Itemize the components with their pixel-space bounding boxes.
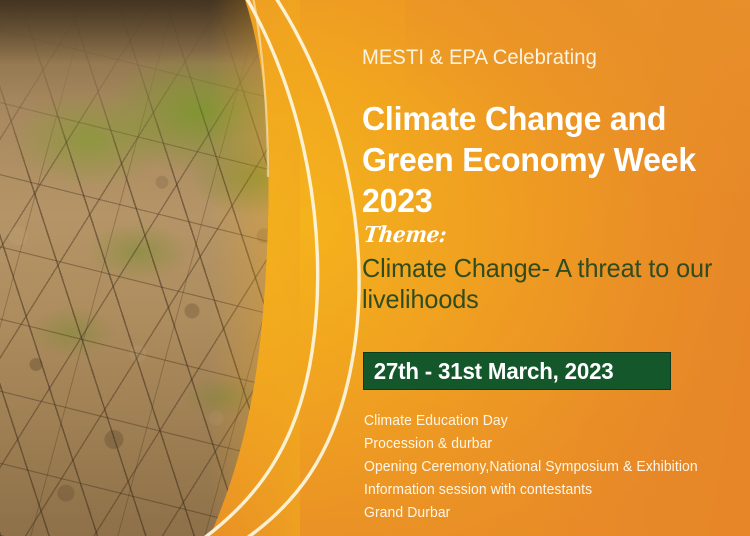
list-item: Climate Education Day (364, 409, 717, 432)
drought-photo (0, 0, 300, 536)
list-item: Opening Ceremony,National Symposium & Ex… (364, 455, 717, 478)
list-item: Grand Durbar (364, 501, 717, 524)
poster-kicker: MESTI & EPA Celebrating (362, 46, 597, 70)
photo-clip-shape (0, 0, 300, 536)
list-item: Information session with contestants (364, 478, 717, 501)
date-range-text: 27th - 31st March, 2023 (364, 358, 614, 385)
event-schedule-list: Climate Education Day Procession & durba… (364, 409, 744, 524)
theme-statement: Climate Change- A threat to our liveliho… (362, 253, 733, 315)
theme-label: Theme: (363, 222, 448, 248)
poster-text-column: MESTI & EPA Celebrating Climate Change a… (362, 0, 738, 536)
date-banner: 27th - 31st March, 2023 (363, 352, 671, 390)
poster-headline: Climate Change and Green Economy Week 20… (362, 98, 731, 221)
soil-speckle-texture (0, 0, 300, 536)
poster-canvas: MESTI & EPA Celebrating Climate Change a… (0, 0, 750, 536)
list-item: Procession & durbar (364, 432, 717, 455)
